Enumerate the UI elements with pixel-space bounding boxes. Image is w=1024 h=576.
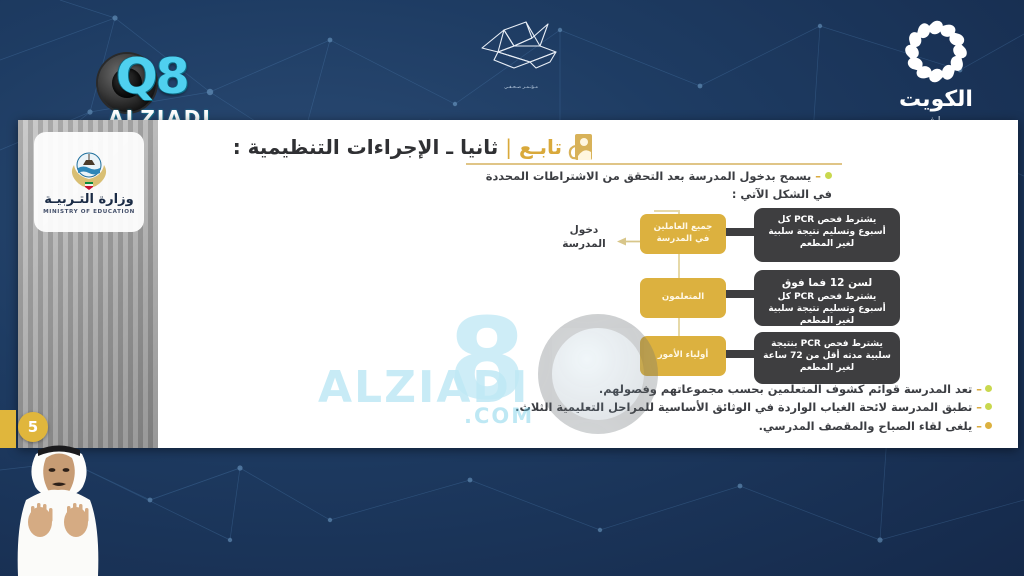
bullet-dot-icon [985,403,992,410]
entry-label: دخول المدرسة [552,224,616,251]
bullet-dot-icon [985,385,992,392]
slide-lead-paragraph: – يسمح بدخول المدرسة بعد التحقق من الاشت… [472,168,832,203]
bullet-dot-icon [985,422,992,429]
ministry-name-en: MINISTRY OF EDUCATION [43,209,135,215]
slide-title-separator: | [505,135,512,159]
sign-language-interpreter [0,444,118,576]
conference-emblem: مـؤتـمـر صـحـفـي [470,18,572,90]
flow-connector [726,350,754,358]
audience-tag: المتعلمون [640,278,726,318]
presentation-slide: وزارة التـربيـة MINISTRY OF EDUCATION تا… [18,120,1018,448]
status-badge: 5 [18,412,48,442]
broadcast-screen: Q8 ALZIADI مـؤتـمـر صـحـفـي [0,0,1024,576]
slide-title-prefix: تابـع [519,135,562,159]
list-item: – تعد المدرسة قوائم كشوف المتعلمين بحسب … [172,380,992,398]
lead-text: يسمح بدخول المدرسة بعد التحقق من الاشترا… [486,169,832,201]
audience-tag: جميع العاملين في المدرسة [640,214,726,254]
requirement-headline: لسن 12 فما فوق [763,276,891,290]
list-item: – تطبق المدرسة لائحة الغياب الواردة في ا… [172,398,992,416]
ministry-logo-card: وزارة التـربيـة MINISTRY OF EDUCATION [34,132,144,232]
ministry-name-ar: وزارة التـربيـة [44,192,133,207]
flow-connector [726,290,754,298]
interpreter-figure [0,444,118,576]
channel-name: الكويت [876,87,996,112]
bullet-text: تعد المدرسة قوائم كشوف المتعلمين بحسب مج… [599,382,972,396]
speaking-person-icon [568,132,594,162]
requirement-box: يشترط فحص PCR بنتيجة سلبية مدته أقل من 7… [754,332,900,384]
channel-bug-mark: Q8 [116,48,188,105]
conference-emblem-caption: مـؤتـمـر صـحـفـي [470,85,572,92]
badge-accent-bar [0,410,16,448]
channel-logo-kuwait-tv: الكويت مباشر [876,18,996,128]
requirement-box: يشترط فحص PCR كل أسبوع وتسليم نتيجة سلبي… [754,208,900,262]
requirement-body: يشترط فحص PCR بنتيجة سلبية مدته أقل من 7… [763,338,891,374]
kuwait-tv-ring-icon [903,18,969,84]
slide-title: تابـع | ثانيا ـ الإجراءات التنظيمية : [233,135,562,159]
bullet-dot-icon [825,172,832,179]
slide-bullet-list: – تعد المدرسة قوائم كشوف المتعلمين بحسب … [172,380,992,435]
bullet-text: تطبق المدرسة لائحة الغياب الواردة في الو… [515,400,972,414]
origami-bird-emblem-icon [470,18,572,78]
requirement-box: لسن 12 فما فوق يشترط فحص PCR كل أسبوع وت… [754,270,900,326]
channel-bug-q8-alziadi: Q8 ALZIADI [92,48,222,128]
slide-title-main: ثانيا ـ الإجراءات التنظيمية : [233,135,499,159]
requirements-flow-diagram: دخول المدرسة ✓ يشترط فحص PCR كل أسبوع وت… [462,206,932,378]
requirement-body: يشترط فحص PCR كل أسبوع وتسليم نتيجة سلبي… [763,291,891,327]
slide-title-row: تابـع | ثانيا ـ الإجراءات التنظيمية : [233,132,594,162]
flow-connector [726,228,754,236]
requirement-body: يشترط فحص PCR كل أسبوع وتسليم نتيجة سلبي… [763,214,891,250]
flow-spine-top-cap [654,210,680,212]
bullet-text: يلغى لقاء الصباح والمقصف المدرسي. [759,419,973,433]
kuwait-state-emblem-icon [66,150,112,190]
title-divider [466,163,842,165]
slide-content: تابـع | ثانيا ـ الإجراءات التنظيمية : – … [164,120,1018,448]
audience-tag: أولياء الأمور [640,336,726,376]
list-item: – يلغى لقاء الصباح والمقصف المدرسي. [172,417,992,435]
